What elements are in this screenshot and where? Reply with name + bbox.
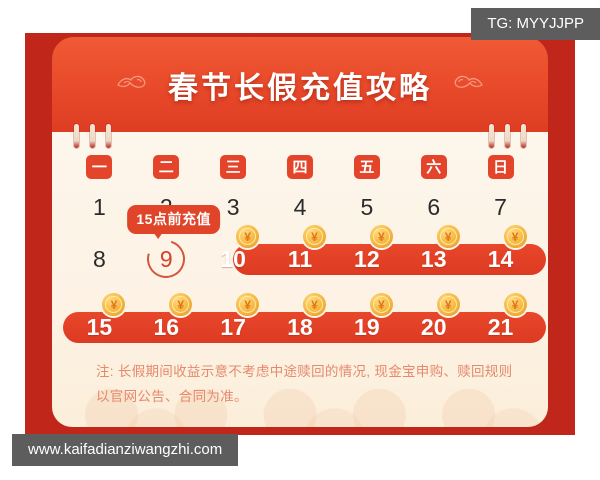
day-number: 1 (93, 196, 106, 219)
day-number: 3 (227, 196, 240, 219)
cloud-ornament-right-icon (450, 74, 484, 95)
yuan-coin-icon: ¥ (437, 225, 460, 248)
weekday-badge: 日 (488, 155, 514, 179)
tassel-icon (74, 124, 79, 148)
day-number: 12 (354, 248, 380, 271)
calendar-day-cell[interactable]: 8 (66, 236, 133, 282)
day-number: 17 (220, 316, 246, 339)
day-number: 20 (421, 316, 447, 339)
day-number: 4 (294, 196, 307, 219)
charge-deadline-tooltip: 15点前充值 (127, 205, 220, 234)
calendar-day-cell[interactable]: 6 (400, 184, 467, 230)
weekday-badge: 二 (153, 155, 179, 179)
day-number: 14 (488, 248, 514, 271)
cloud-ornament-left-icon (116, 74, 150, 95)
calendar-day-cell[interactable]: 15¥ (66, 304, 133, 350)
watermark-site: www.kaifadianziwangzhi.com (12, 434, 238, 466)
footnote-text: 注: 长假期间收益示意不考虑中途赎回的情况, 现金宝申购、赎回规则以官网公告、合… (96, 360, 514, 410)
calendar-day-cell[interactable]: 13¥ (400, 236, 467, 282)
yuan-coin-icon: ¥ (303, 225, 326, 248)
day-number: 8 (93, 248, 106, 271)
day-number: 19 (354, 316, 380, 339)
weekday-badge: 五 (354, 155, 380, 179)
day-number: 18 (287, 316, 313, 339)
calendar-day-cell[interactable]: 19¥ (333, 304, 400, 350)
calendar-day-cell[interactable]: 17¥ (200, 304, 267, 350)
weekday-badge: 六 (421, 155, 447, 179)
yuan-coin-icon: ¥ (370, 293, 393, 316)
highlight-ring (141, 233, 192, 284)
day-number: 10 (220, 248, 246, 271)
yuan-coin-icon: ¥ (504, 293, 527, 316)
calendar-week-row: 15¥16¥17¥18¥19¥20¥21¥ (52, 304, 548, 350)
yuan-coin-icon: ¥ (370, 225, 393, 248)
tassel-icon (106, 124, 111, 148)
weekday-cell: 二 (133, 154, 200, 180)
yuan-coin-icon: ¥ (504, 225, 527, 248)
tassel-icon (521, 124, 526, 148)
day-number: 7 (494, 196, 507, 219)
calendar-week-row: 815点前充值910¥11¥12¥13¥14¥ (52, 236, 548, 282)
weekday-cell: 三 (200, 154, 267, 180)
promo-poster-card: 春节长假充值攻略 一二三四五六日 1234567 (25, 33, 575, 435)
calendar-day-cell[interactable]: 10¥ (200, 236, 267, 282)
calendar-day-cell[interactable]: 11¥ (267, 236, 334, 282)
weekday-badge: 四 (287, 155, 313, 179)
calendar-day-cell[interactable]: 1 (66, 184, 133, 230)
title-banner: 春节长假充值攻略 (52, 37, 548, 132)
weekday-header-row: 一二三四五六日 (52, 154, 548, 180)
day-number: 16 (153, 316, 179, 339)
tassel-icon (505, 124, 510, 148)
tassel-group-left (74, 124, 111, 148)
tassel-icon (489, 124, 494, 148)
day-number: 11 (288, 248, 312, 271)
calendar-day-cell[interactable]: 7 (467, 184, 534, 230)
calendar-day-cell[interactable]: 15点前充值9 (133, 236, 200, 282)
page-title: 春节长假充值攻略 (168, 63, 432, 107)
calendar-panel: 一二三四五六日 1234567 815点前充值910¥11¥12¥13¥14¥ … (52, 132, 548, 427)
day-number: 6 (427, 196, 440, 219)
yuan-coin-icon: ¥ (102, 293, 125, 316)
day-number: 21 (488, 316, 514, 339)
weekday-cell: 六 (400, 154, 467, 180)
weekday-cell: 四 (267, 154, 334, 180)
day-number: 5 (360, 196, 373, 219)
tassel-icon (90, 124, 95, 148)
yuan-coin-icon: ¥ (303, 293, 326, 316)
day-number: 13 (421, 248, 447, 271)
calendar-day-cell[interactable]: 21¥ (467, 304, 534, 350)
calendar-day-cell[interactable]: 12¥ (333, 236, 400, 282)
weekday-cell: 一 (66, 154, 133, 180)
yuan-coin-icon: ¥ (437, 293, 460, 316)
tassel-group-right (489, 124, 526, 148)
weekday-badge: 一 (86, 155, 112, 179)
calendar-day-cell[interactable]: 5 (333, 184, 400, 230)
weekday-cell: 日 (467, 154, 534, 180)
calendar-day-cell[interactable]: 4 (267, 184, 334, 230)
watermark-telegram: TG: MYYJJPP (471, 8, 600, 40)
weekday-badge: 三 (220, 155, 246, 179)
yuan-coin-icon: ¥ (236, 293, 259, 316)
day-number: 15 (87, 316, 113, 339)
weekday-cell: 五 (333, 154, 400, 180)
yuan-coin-icon: ¥ (236, 225, 259, 248)
yuan-coin-icon: ¥ (169, 293, 192, 316)
calendar-day-cell[interactable]: 20¥ (400, 304, 467, 350)
calendar-day-cell[interactable]: 14¥ (467, 236, 534, 282)
calendar-day-cell[interactable]: 18¥ (267, 304, 334, 350)
calendar-day-cell[interactable]: 16¥ (133, 304, 200, 350)
